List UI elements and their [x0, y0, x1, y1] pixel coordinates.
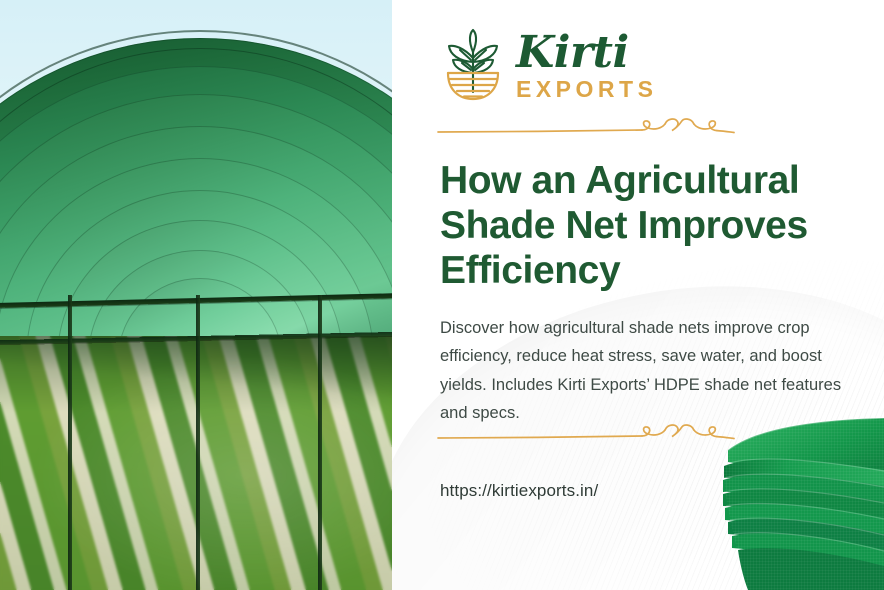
brand-name: Kirti — [516, 31, 657, 75]
description-text: Discover how agricultural shade nets imp… — [440, 314, 884, 428]
divider-top — [436, 112, 736, 140]
content-panel: Kirti EXPORTS How an Agricultural Shade … — [392, 0, 884, 590]
support-post-1 — [68, 295, 72, 590]
folded-shade-net-stack — [714, 414, 884, 590]
support-post-3 — [318, 295, 322, 590]
brand-logo[interactable]: Kirti EXPORTS — [440, 28, 657, 102]
support-post-2 — [196, 295, 200, 590]
thumbnail-canvas: Kirti EXPORTS How an Agricultural Shade … — [0, 0, 884, 590]
greenhouse-shade-net-photo — [0, 0, 392, 590]
brand-subtitle: EXPORTS — [516, 78, 657, 101]
website-url[interactable]: https://kirtiexports.in/ — [440, 481, 598, 501]
leaf-plant-basket-logo-icon — [440, 28, 506, 102]
dome-secondary-beam — [0, 48, 392, 334]
divider-bottom — [436, 418, 736, 446]
page-title: How an Agricultural Shade Net Improves E… — [440, 158, 884, 294]
